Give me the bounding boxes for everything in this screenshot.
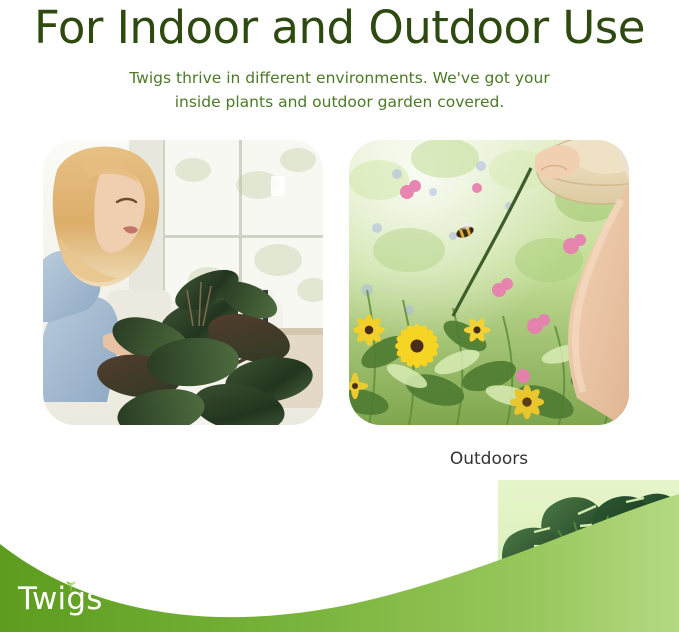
indoor-photo [43, 140, 323, 425]
page-subtitle: Twigs thrive in different environments. … [125, 66, 555, 114]
page-header: For Indoor and Outdoor Use Twigs thrive … [0, 0, 679, 114]
page-title: For Indoor and Outdoor Use [0, 2, 679, 54]
brand-logo: Twigs [18, 582, 103, 616]
leaf-sprout-icon [65, 580, 77, 592]
brand-banner: Twigs [0, 480, 679, 632]
outdoor-caption: Outdoors [349, 449, 629, 469]
outdoor-photo [349, 140, 629, 425]
panel-outdoor: Outdoors [349, 140, 629, 469]
subtitle-line-2: inside plants and outdoor garden covered… [175, 93, 505, 111]
feature-panels: Outdoors [43, 140, 629, 469]
panel-indoor [43, 140, 323, 469]
subtitle-line-1: Twigs thrive in different environments. … [129, 69, 549, 87]
brand-name: Twigs [18, 581, 103, 617]
